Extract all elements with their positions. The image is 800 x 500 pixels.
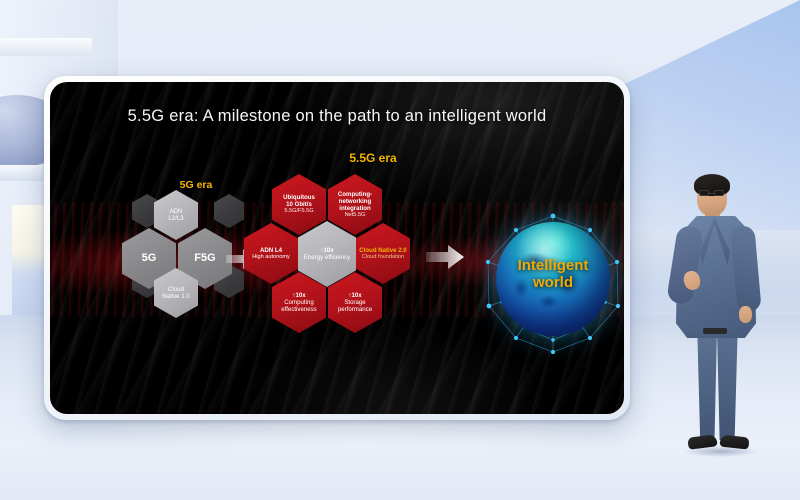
hex-5g-cloud-line1: Cloud (168, 286, 184, 293)
hex-55g-energy-sub1: Energy efficiency (304, 254, 350, 261)
hex-55g-cn-sub2: integration (339, 205, 370, 212)
hex-55g-cn-sub3: Net5.5G (345, 212, 366, 218)
hex-55g-ce-sub1: Computing (284, 299, 313, 306)
presenter-hand-right (739, 306, 752, 323)
presenter-belt (703, 328, 727, 334)
hex-55g-ce-sub2: effectiveness (281, 306, 316, 313)
hex-55g-ubiquitous-title: Ubiquitous (283, 194, 315, 201)
hex-55g-sp-sub2: performance (338, 306, 372, 313)
intelligent-world-label: Intelligent world (484, 258, 622, 292)
hex-55g-adn-sub1: High autonomy (252, 254, 290, 260)
hex-5g-blank-top-right (214, 194, 244, 228)
hex-55g-adn-title: ADN L4 (260, 247, 282, 254)
era-5g-caption: 5G era (154, 179, 238, 191)
hex-55g-sp-title: ↑10x (348, 292, 361, 299)
presenter-speaker (660, 168, 772, 463)
slide-canvas: 5.5G era: A milestone on the path to an … (50, 82, 624, 414)
hex-55g-ubiquitous[interactable]: Ubiquitous 10 Gbit/s 5.5G/F5.5G (272, 174, 326, 235)
hex-5g-adn[interactable]: ADN L2/L3 (154, 190, 198, 240)
hex-55g-adn-l4[interactable]: ADN L4 High autonomy (244, 223, 298, 284)
hex-55g-cn2-title: Cloud Native 2.0 (359, 247, 406, 254)
hex-5g-adn-line2: L2/L3 (168, 215, 183, 222)
hex-5g-5g-label: 5G (142, 252, 157, 265)
slide-title: 5.5G era: A milestone on the path to an … (50, 107, 624, 126)
arrow-55g-to-intelligent-world (426, 244, 464, 270)
hex-55g-energy-title: ↑10x (320, 247, 333, 254)
intelligent-world-line2: world (484, 275, 622, 292)
intelligent-world-line1: Intelligent (484, 258, 622, 275)
glasses-icon (699, 190, 709, 196)
hex-5g-adn-line1: ADN (170, 208, 183, 215)
hex-55g-cloud-native-2[interactable]: Cloud Native 2.0 Cloud foundation (356, 223, 410, 284)
hex-55g-cn2-sub1: Cloud foundation (362, 254, 404, 260)
intelligent-world-globe: Intelligent world (478, 210, 624, 360)
era-55g-caption: 5.5G era (318, 151, 428, 165)
hex-55g-computing-networking[interactable]: Computing- networking integration Net5.5… (328, 174, 382, 235)
presenter-leg-right (717, 330, 739, 440)
hex-55g-cn-sub1: networking (339, 198, 372, 205)
hex-5g-cloud-line2: Native 1.0 (162, 293, 189, 300)
hex-55g-ubiquitous-sub1: 10 Gbit/s (286, 201, 312, 208)
hex-55g-cn-title: Computing- (338, 191, 372, 198)
hex-55g-ubiquitous-sub2: 5.5G/F5.5G (284, 208, 313, 214)
glasses-bridge (709, 193, 715, 194)
doorway-light (12, 205, 46, 317)
glasses-lens-right (714, 190, 724, 196)
hex-55g-ce-title: ↑10x (292, 292, 305, 299)
presenter-leg-left (696, 330, 717, 440)
presentation-screen-frame: 5.5G era: A milestone on the path to an … (44, 76, 630, 420)
stage-scene: 5.5G era: A milestone on the path to an … (0, 0, 800, 500)
upper-ledge (0, 38, 92, 56)
hex-55g-sp-sub1: Storage (344, 299, 365, 306)
hex-5g-f5g-label: F5G (194, 252, 215, 265)
